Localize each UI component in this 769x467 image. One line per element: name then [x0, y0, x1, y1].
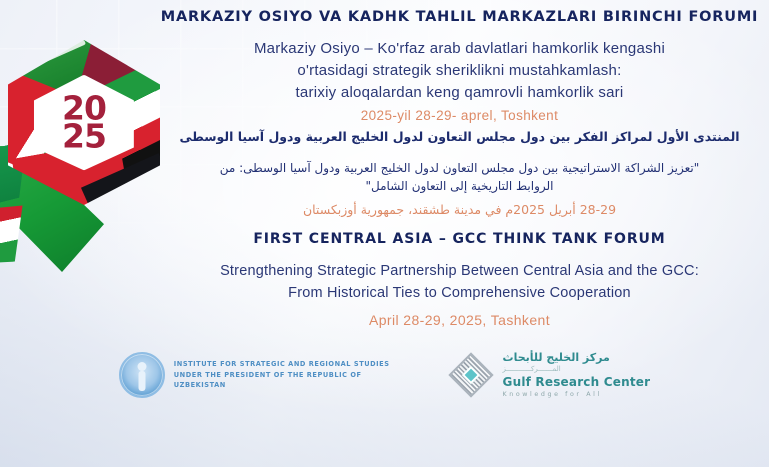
logo-row: INSTITUTE FOR STRATEGIC AND REGIONAL STU… — [0, 352, 769, 398]
year-label: 20 25 — [62, 94, 106, 151]
year-label-bottom: 25 — [62, 123, 106, 151]
grc-english-name: Gulf Research Center — [503, 375, 651, 390]
english-subtitle-line-1: Strengthening Strategic Partnership Betw… — [150, 261, 769, 283]
isrs-logo: INSTITUTE FOR STRATEGIC AND REGIONAL STU… — [119, 352, 390, 398]
arabic-subtitle-line-2: الروابط التاريخية إلى التعاون الشامل" — [198, 177, 721, 195]
grc-emblem-icon — [448, 352, 494, 398]
isrs-logo-text: INSTITUTE FOR STRATEGIC AND REGIONAL STU… — [174, 359, 390, 391]
grc-arabic-name: مركز الخليج للأبحاث — [503, 352, 651, 364]
uzbek-subtitle: Markaziy Osiyo – Ko'rfaz arab davlatlari… — [150, 38, 769, 103]
uzbek-subtitle-line-1: Markaziy Osiyo – Ko'rfaz arab davlatlari… — [150, 38, 769, 60]
english-title: FIRST CENTRAL ASIA – GCC THINK TANK FORU… — [150, 231, 769, 247]
isrs-logo-line-3: UZBEKISTAN — [174, 380, 390, 391]
isrs-logo-line-1: INSTITUTE FOR STRATEGIC AND REGIONAL STU… — [174, 359, 390, 370]
english-subtitle: Strengthening Strategic Partnership Betw… — [150, 261, 769, 305]
grc-logo-text: مركز الخليج للأبحاث المـــــــركــــــــ… — [503, 352, 651, 397]
uzbek-date: 2025-yil 28-29- aprel, Toshkent — [150, 108, 769, 123]
forum-poster-slide: 20 25 MARKAZIY OSIYO VA KADHK TAHLIL MAR… — [0, 0, 769, 467]
english-date: April 28-29, 2025, Tashkent — [150, 312, 769, 328]
isrs-emblem-icon — [119, 352, 165, 398]
grc-arabic-subline: المـــــــركــــــــــــز — [503, 365, 651, 374]
uzbek-title: MARKAZIY OSIYO VA KADHK TAHLIL MARKAZLAR… — [150, 9, 769, 25]
arabic-date: 28-29 أبريل 2025م في مدينة طشقند، جمهوري… — [150, 202, 769, 217]
arabic-subtitle-line-1: "تعزيز الشراكة الاستراتيجية بين دول مجلس… — [198, 159, 721, 177]
uzbek-subtitle-line-3: tarixiy aloqalardan keng qamrovli hamkor… — [150, 82, 769, 104]
grc-logo: مركز الخليج للأبحاث المـــــــركــــــــ… — [448, 352, 651, 398]
grc-tagline: Knowledge for All — [503, 391, 651, 398]
arabic-title: المنتدى الأول لمراكز الفكر بين دول مجلس … — [150, 129, 769, 144]
english-subtitle-line-2: From Historical Ties to Comprehensive Co… — [150, 283, 769, 305]
isrs-logo-line-2: UNDER THE PRESIDENT OF THE REPUBLIC OF — [174, 370, 390, 381]
arabic-subtitle: "تعزيز الشراكة الاستراتيجية بين دول مجلس… — [150, 159, 769, 195]
uzbek-subtitle-line-2: o'rtasidagi strategik sheriklikni mustah… — [150, 60, 769, 82]
